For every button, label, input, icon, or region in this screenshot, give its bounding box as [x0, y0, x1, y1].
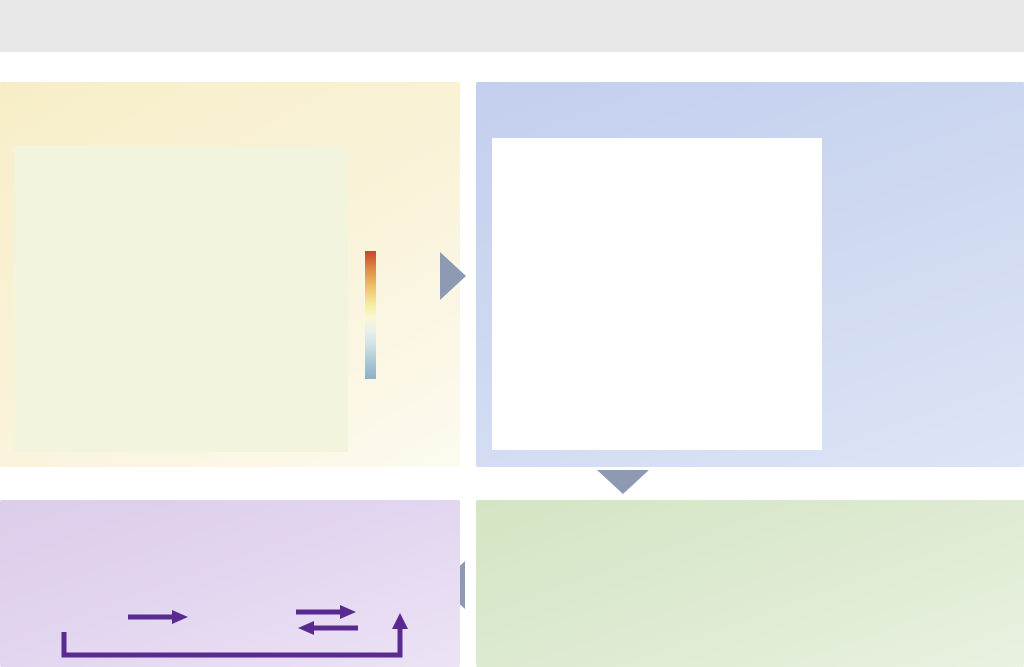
pathway-color-strip [14, 134, 348, 142]
mlof-approach-track [506, 265, 808, 301]
replication-panel [476, 500, 1024, 667]
mediation-flow-svg [6, 599, 454, 661]
lof-approach-block [502, 362, 814, 407]
super-pathway-legend [362, 90, 458, 94]
mlof-approach-block [502, 256, 814, 301]
arrow-down-replication-icon [597, 470, 649, 494]
variant-class-legend [836, 142, 1011, 149]
correlation-heatmap-figure [14, 134, 348, 452]
coding-approach-block [502, 150, 814, 195]
title-bar [0, 0, 1024, 52]
arrow-right-discovery-icon [440, 252, 466, 300]
mediation-flow-diagram [6, 599, 454, 661]
integrative-analyses-panel [0, 500, 460, 667]
phenotypes-panel [0, 82, 460, 467]
metabolite-correlation-heatmap [14, 146, 348, 452]
coding-approach-track [506, 159, 808, 195]
approaches-card [492, 138, 822, 450]
discovery-panel [476, 82, 1024, 467]
colorbar-gradient [365, 251, 376, 379]
lof-approach-track [506, 371, 808, 407]
